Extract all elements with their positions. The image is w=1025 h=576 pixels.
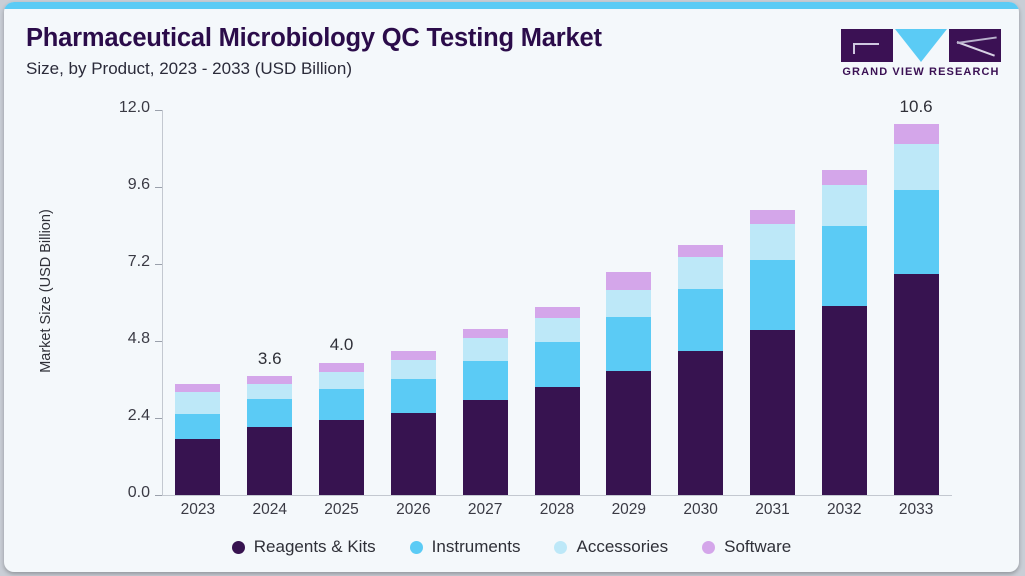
bar-segment-software[interactable] [535, 307, 580, 317]
x-tick-label: 2033 [876, 501, 956, 519]
legend-label: Accessories [576, 537, 668, 557]
bar-segment-accessories[interactable] [894, 144, 939, 191]
y-tick-mark [155, 264, 162, 265]
legend-label: Instruments [432, 537, 521, 557]
legend-item-software[interactable]: Software [702, 537, 791, 557]
y-tick-label: 0.0 [92, 484, 150, 502]
bar-segment-software[interactable] [319, 363, 364, 372]
x-axis-line [162, 495, 952, 496]
y-tick-label: 7.2 [92, 253, 150, 271]
bar-segment-reagents-kits[interactable] [822, 306, 867, 495]
page-title: Pharmaceutical Microbiology QC Testing M… [26, 24, 602, 53]
bar-2023[interactable] [175, 384, 220, 495]
chart-legend: Reagents & KitsInstrumentsAccessoriesSof… [4, 537, 1019, 557]
x-tick-label: 2031 [732, 501, 812, 519]
bar-segment-instruments[interactable] [535, 342, 580, 387]
bar-segment-reagents-kits[interactable] [678, 351, 723, 495]
bar-segment-accessories[interactable] [247, 384, 292, 399]
logo-right-block-icon [949, 29, 1001, 62]
bar-segment-instruments[interactable] [319, 389, 364, 420]
legend-swatch-icon [554, 541, 567, 554]
bar-segment-reagents-kits[interactable] [247, 427, 292, 495]
bar-2033[interactable] [894, 124, 939, 495]
grand-view-research-logo: GRAND VIEW RESEARCH [841, 29, 1001, 87]
bar-segment-software[interactable] [822, 170, 867, 184]
bar-segment-software[interactable] [750, 210, 795, 223]
bar-segment-reagents-kits[interactable] [894, 274, 939, 495]
legend-item-reagents-kits[interactable]: Reagents & Kits [232, 537, 376, 557]
x-tick-label: 2023 [158, 501, 238, 519]
y-tick-mark [155, 341, 162, 342]
bar-2030[interactable] [678, 245, 723, 495]
bar-segment-reagents-kits[interactable] [463, 400, 508, 495]
bar-segment-instruments[interactable] [247, 399, 292, 427]
bar-segment-software[interactable] [463, 329, 508, 339]
chart-header: Pharmaceutical Microbiology QC Testing M… [4, 9, 1019, 87]
chart-plot-area: Market Size (USD Billion) 0.02.44.87.29.… [4, 87, 1019, 572]
bar-segment-instruments[interactable] [606, 317, 651, 371]
bar-2031[interactable] [750, 210, 795, 495]
bar-segment-software[interactable] [247, 376, 292, 384]
x-tick-label: 2025 [302, 501, 382, 519]
bar-segment-instruments[interactable] [894, 190, 939, 274]
bar-2032[interactable] [822, 170, 867, 495]
y-tick-mark [155, 495, 162, 496]
logo-wordmark: GRAND VIEW RESEARCH [841, 66, 1001, 78]
bar-segment-reagents-kits[interactable] [391, 413, 436, 495]
bar-segment-reagents-kits[interactable] [750, 330, 795, 495]
bar-segment-accessories[interactable] [678, 257, 723, 289]
y-tick-mark [155, 110, 162, 111]
y-axis-title: Market Size (USD Billion) [38, 151, 54, 431]
y-tick-label: 9.6 [92, 176, 150, 194]
bar-segment-instruments[interactable] [750, 260, 795, 331]
x-tick-label: 2032 [804, 501, 884, 519]
bar-segment-accessories[interactable] [463, 338, 508, 360]
bar-segment-software[interactable] [678, 245, 723, 257]
x-tick-label: 2027 [445, 501, 525, 519]
accent-top-bar [4, 2, 1019, 9]
bar-segment-reagents-kits[interactable] [175, 439, 220, 495]
y-tick-label: 4.8 [92, 330, 150, 348]
bar-2024[interactable] [247, 376, 292, 495]
bar-segment-instruments[interactable] [822, 226, 867, 306]
bar-segment-accessories[interactable] [391, 360, 436, 379]
legend-label: Software [724, 537, 791, 557]
chart-card: Pharmaceutical Microbiology QC Testing M… [4, 2, 1019, 572]
bar-segment-instruments[interactable] [175, 414, 220, 439]
legend-swatch-icon [702, 541, 715, 554]
legend-item-instruments[interactable]: Instruments [410, 537, 521, 557]
bar-value-label: 3.6 [230, 349, 310, 369]
y-tick-mark [155, 418, 162, 419]
y-axis-line [162, 110, 163, 495]
legend-swatch-icon [232, 541, 245, 554]
x-tick-label: 2028 [517, 501, 597, 519]
y-tick-label: 2.4 [92, 407, 150, 425]
y-tick-mark [155, 187, 162, 188]
logo-right-mark-icon [957, 41, 995, 57]
bar-segment-accessories[interactable] [535, 318, 580, 342]
legend-item-accessories[interactable]: Accessories [554, 537, 668, 557]
page-subtitle: Size, by Product, 2023 - 2033 (USD Billi… [26, 59, 352, 79]
bar-2025[interactable] [319, 363, 364, 495]
logo-triangle-icon [895, 29, 947, 62]
logo-left-mark-icon [853, 43, 879, 54]
bar-segment-instruments[interactable] [678, 289, 723, 351]
x-tick-label: 2026 [373, 501, 453, 519]
x-tick-label: 2024 [230, 501, 310, 519]
bar-segment-software[interactable] [391, 351, 436, 360]
bar-segment-reagents-kits[interactable] [606, 371, 651, 495]
legend-label: Reagents & Kits [254, 537, 376, 557]
y-tick-label: 12.0 [92, 99, 150, 117]
x-tick-label: 2029 [589, 501, 669, 519]
logo-left-block-icon [841, 29, 893, 62]
bar-2028[interactable] [535, 307, 580, 495]
bar-segment-accessories[interactable] [750, 224, 795, 260]
bar-2029[interactable] [606, 272, 651, 495]
bar-2026[interactable] [391, 351, 436, 495]
bar-segment-software[interactable] [606, 272, 651, 290]
logo-right-mark2-icon [957, 36, 997, 44]
x-tick-label: 2030 [661, 501, 741, 519]
legend-swatch-icon [410, 541, 423, 554]
bar-value-label: 10.6 [876, 97, 956, 117]
bar-segment-software[interactable] [175, 384, 220, 392]
bar-segment-accessories[interactable] [606, 290, 651, 317]
logo-shapes [841, 29, 1001, 63]
bar-segment-accessories[interactable] [822, 185, 867, 226]
bar-value-label: 4.0 [302, 335, 382, 355]
bar-segment-accessories[interactable] [175, 392, 220, 414]
bar-segment-accessories[interactable] [319, 372, 364, 390]
bar-segment-reagents-kits[interactable] [319, 420, 364, 495]
bar-segment-reagents-kits[interactable] [535, 387, 580, 495]
bar-segment-instruments[interactable] [463, 361, 508, 400]
bar-2027[interactable] [463, 329, 508, 495]
bar-segment-instruments[interactable] [391, 379, 436, 413]
bar-segment-software[interactable] [894, 124, 939, 143]
